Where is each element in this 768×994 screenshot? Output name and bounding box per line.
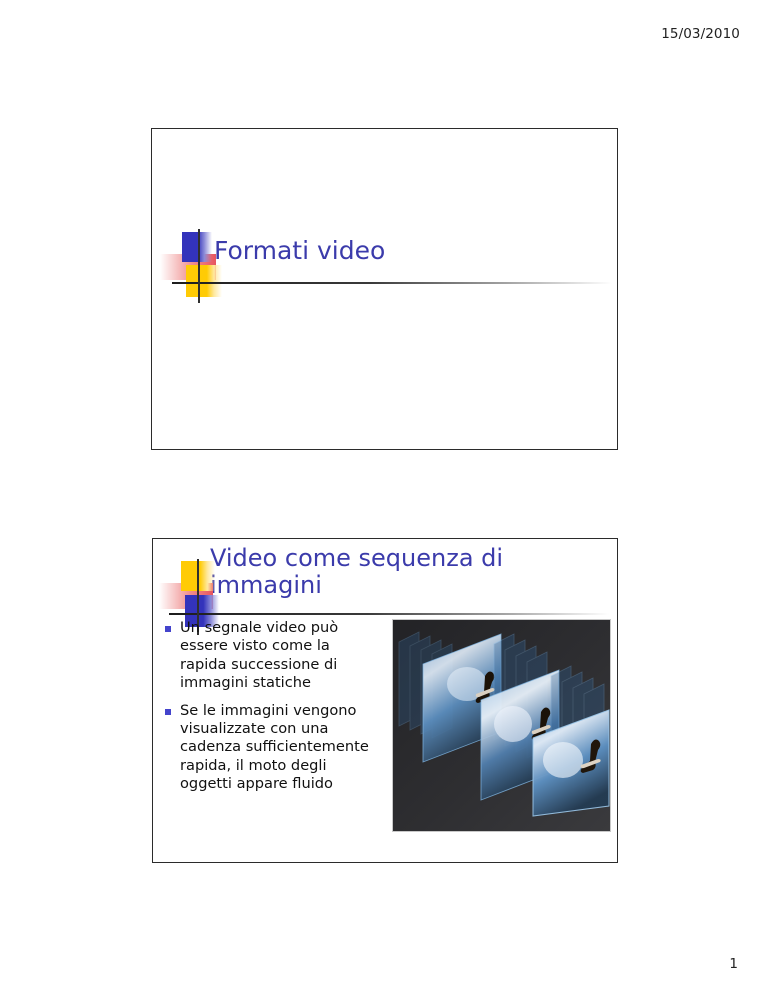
list-item: Se le immagini vengono visualizzate con … [165, 702, 393, 794]
motif-blue-square [182, 232, 212, 262]
page-number: 1 [729, 956, 738, 972]
motif-vertical-rule [198, 229, 200, 303]
list-item-text: Un segnale video può essere visto come l… [180, 619, 380, 693]
slide-1-title: Formati video [214, 237, 385, 265]
list-item-text: Se le immagini vengono visualizzate con … [180, 702, 380, 794]
motif-red-square [159, 583, 213, 609]
motif-horizontal-rule [172, 282, 612, 284]
bullet-square-icon [165, 709, 171, 715]
motif-red-square [160, 254, 216, 280]
slide-thumbnail-1[interactable]: Formati video [151, 128, 618, 450]
bullet-square-icon [165, 626, 171, 632]
handout-date: 15/03/2010 [661, 26, 740, 42]
motif-yellow-square [186, 265, 222, 297]
surfer-frame-sequence-image [392, 619, 611, 832]
slide-2-bullet-list: Un segnale video può essere visto come l… [165, 619, 393, 802]
slide-thumbnail-2[interactable]: Video come sequenza di immagini Un segna… [152, 538, 618, 863]
list-item: Un segnale video può essere visto come l… [165, 619, 393, 693]
slide-2-title: Video come sequenza di immagini [210, 545, 590, 599]
motif-horizontal-rule [169, 613, 609, 615]
